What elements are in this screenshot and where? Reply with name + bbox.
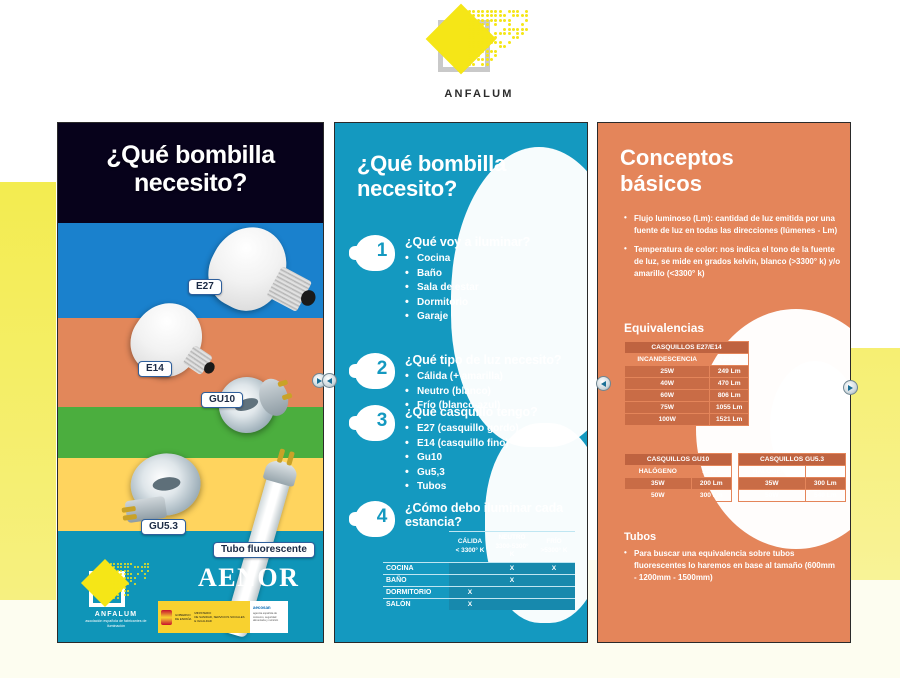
carousel-next-button-2[interactable] <box>843 380 858 395</box>
bulb-tag-gu53: GU5.3 <box>141 519 186 535</box>
bulb-tag-gu10: GU10 <box>201 392 243 408</box>
bulb-tag-e14: E14 <box>138 361 172 377</box>
table-head: CÁLIDA < 3300° K NEUTRO 3300-5300° K FRÍ… <box>383 532 575 563</box>
cell-lumens: 470 Lm <box>710 378 749 390</box>
concepts-list: Flujo luminoso (Lm): cantidad de luz emi… <box>624 213 842 287</box>
cell-lumens: 249 Lm <box>710 366 749 378</box>
table-row: BAÑO X <box>383 574 575 586</box>
cell-calida <box>449 574 491 586</box>
row-label: DORMITORIO <box>383 586 449 598</box>
chevron-left-icon <box>327 378 332 384</box>
anfalum-logo: ANFALUM <box>424 8 534 108</box>
list-item: Temperatura de color: nos indica el tono… <box>624 244 842 280</box>
cell-calida <box>449 562 491 574</box>
logo-wordmark: ANFALUM <box>424 88 534 100</box>
list-item: Flujo luminoso (Lm): cantidad de luz emi… <box>624 213 842 237</box>
table-row: 100W 1521 Lm <box>625 414 749 426</box>
table-subhead-row: HALÓGENO LED's <box>625 466 732 478</box>
step-4: 4 ¿Cómo debo iluminar cada estancia? <box>349 501 577 532</box>
table-row: 50W 540 Lm <box>739 490 846 502</box>
row-label: SALÓN <box>383 598 449 610</box>
list-item: Neutro (blanco) <box>405 385 577 400</box>
cell-watts: 50W <box>739 490 806 502</box>
panel-bulb-types[interactable]: ¿Qué bombilla necesito? <box>57 122 324 643</box>
cell-neutro <box>491 598 533 610</box>
left-yellow-band <box>0 182 56 600</box>
gobierno-text: GOBIERNO DE ESPAÑA <box>175 613 191 621</box>
cell-watts: 50W <box>625 490 692 502</box>
cell-neutro: X <box>491 574 533 586</box>
table-row: SALÓN X <box>383 598 575 610</box>
col-neutro-name: NEUTRO <box>494 534 530 543</box>
row-label: BAÑO <box>383 574 449 586</box>
col-halogeno: HALÓGENO <box>739 466 806 478</box>
step-1: 1 ¿Qué voy a iluminar? Cocina Baño Sala … <box>349 235 577 325</box>
step-2-number: 2 <box>369 358 395 380</box>
col-calida-range: < 3300° K <box>452 547 488 556</box>
table-row: COCINA X X <box>383 562 575 574</box>
table-corner <box>383 532 449 563</box>
table-row: 75W 1055 Lm <box>625 402 749 414</box>
table-row: DORMITORIO X <box>383 586 575 598</box>
logo-dots-icon <box>468 10 530 66</box>
list-item: Garaje <box>405 310 577 325</box>
tubos-title: Tubos <box>624 531 656 543</box>
cell-watts: 40W <box>625 378 710 390</box>
cell-lumens: 540 Lm <box>805 490 845 502</box>
list-item: Gu10 <box>405 451 577 466</box>
row-label: COCINA <box>383 562 449 574</box>
list-item: Baño <box>405 267 577 282</box>
middle-panel-title: ¿Qué bombilla necesito? <box>357 151 567 202</box>
cell-calida: X <box>449 586 491 598</box>
aecosan-logo: aecosan agencia española de consumo, seg… <box>250 601 288 633</box>
list-item: Sala de estar <box>405 281 577 296</box>
tubos-list: Para buscar una equivalencia sobre tubos… <box>624 548 839 584</box>
col-halogeno: HALÓGENO <box>625 466 692 478</box>
table-subhead-row: HALÓGENO LED's <box>739 466 846 478</box>
step-3-list: E27 (casquillo gordo) E14 (casquillo fin… <box>405 422 577 495</box>
col-leds: LED's <box>805 466 845 478</box>
step-2-question: ¿Qué tipo de luz necesito? <box>405 353 577 367</box>
col-calida: CÁLIDA < 3300° K <box>449 532 491 563</box>
aecosan-sub: agencia española de consumo, seguridad a… <box>253 612 285 623</box>
step-4-number: 4 <box>369 506 395 528</box>
list-item: Cocina <box>405 252 577 267</box>
cell-watts: 35W <box>625 478 692 490</box>
table-title: CASQUILLOS GU10 <box>625 454 732 466</box>
estancia-table: CÁLIDA < 3300° K NEUTRO 3300-5300° K FRÍ… <box>383 531 575 610</box>
cell-frio <box>533 574 575 586</box>
col-leds: LED's <box>710 354 749 366</box>
list-item: E14 (casquillo fino) <box>405 437 577 452</box>
step-1-list: Cocina Baño Sala de estar Dormitorio Gar… <box>405 252 577 325</box>
step-3-question: ¿Qué casquillo tengo? <box>405 405 577 419</box>
col-incandescencia: INCANDESCENCIA <box>625 354 710 366</box>
list-item: Dormitorio <box>405 296 577 311</box>
spain-coat-of-arms-icon <box>161 610 172 625</box>
cell-watts: 35W <box>739 478 806 490</box>
footer-logo-dots-icon <box>110 563 152 603</box>
chevron-right-icon <box>848 385 853 391</box>
ministerio-line3: E IGUALDAD <box>194 619 244 623</box>
cell-neutro: X <box>491 562 533 574</box>
aecosan-name: aecosan <box>253 605 285 610</box>
bulb-tag-tubo: Tubo fluorescente <box>213 542 315 558</box>
table-row: 60W 806 Lm <box>625 390 749 402</box>
footer-anfalum-logo: ANFALUM asociación española de fabricant… <box>80 561 152 629</box>
cell-watts: 60W <box>625 390 710 402</box>
col-neutro: NEUTRO 3300-5300° K <box>491 532 533 563</box>
list-item: Tubos <box>405 480 577 495</box>
table-row: 35W 300 Lm <box>739 478 846 490</box>
col-leds: LED's <box>691 466 731 478</box>
list-item: E27 (casquillo gordo) <box>405 422 577 437</box>
cell-frio: X <box>533 562 575 574</box>
cell-watts: 25W <box>625 366 710 378</box>
step-3-number: 3 <box>369 410 395 432</box>
equivalence-table-gu10: CASQUILLOS GU10 HALÓGENO LED's 35W 200 L… <box>624 453 732 502</box>
step-1-number: 1 <box>369 240 395 262</box>
table-header-row: CASQUILLOS E27/E14 <box>625 342 749 354</box>
table-title: CASQUILLOS E27/E14 <box>625 342 749 354</box>
table-header-row: CÁLIDA < 3300° K NEUTRO 3300-5300° K FRÍ… <box>383 532 575 563</box>
table-row: 40W 470 Lm <box>625 378 749 390</box>
chevron-left-icon <box>601 381 606 387</box>
cell-watts: 100W <box>625 414 710 426</box>
infographic-page: ANFALUM ¿Qué bombilla necesito? <box>0 0 900 678</box>
cell-lumens: 300 Lm <box>691 490 731 502</box>
table-body: COCINA X X BAÑO X DORMITORIO X <box>383 562 575 610</box>
cell-watts: 75W <box>625 402 710 414</box>
list-item: Para buscar una equivalencia sobre tubos… <box>624 548 839 584</box>
cell-frio <box>533 586 575 598</box>
col-neutro-range: 3300-5300° K <box>494 543 530 560</box>
step-4-question: ¿Cómo debo iluminar cada estancia? <box>405 501 577 529</box>
table-subhead-row: INCANDESCENCIA LED's <box>625 354 749 366</box>
bulb-tag-e27: E27 <box>188 279 222 295</box>
government-logos-bar: GOBIERNO DE ESPAÑA MINISTERIO DE SANIDAD… <box>158 601 288 633</box>
col-frio: FRÍO >5300° K <box>533 532 575 563</box>
aenor-wordmark: AENOR <box>198 563 299 593</box>
col-frio-name: FRÍO <box>536 538 572 547</box>
table-row: 25W 249 Lm <box>625 366 749 378</box>
carousel-prev-button-2[interactable] <box>596 376 611 391</box>
cell-lumens: 300 Lm <box>805 478 845 490</box>
ministerio-text: MINISTERIO DE SANIDAD, SERVICIOS SOCIALE… <box>194 611 244 624</box>
list-item: Cálida (+ amarilla) <box>405 370 577 385</box>
footer-anfalum-name: ANFALUM <box>80 611 152 618</box>
gobierno-line2: DE ESPAÑA <box>175 617 191 621</box>
panel-concepts[interactable]: Conceptos básicos Flujo luminoso (Lm): c… <box>597 122 851 643</box>
cell-lumens: 1055 Lm <box>710 402 749 414</box>
table-row: 35W 200 Lm <box>625 478 732 490</box>
right-panel-title: Conceptos básicos <box>620 145 820 196</box>
table-title: CASQUILLOS GU5.3 <box>739 454 846 466</box>
col-frio-range: >5300° K <box>536 547 572 556</box>
col-calida-name: CÁLIDA <box>452 538 488 547</box>
step-3: 3 ¿Qué casquillo tengo? E27 (casquillo g… <box>349 405 577 495</box>
cell-lumens: 806 Lm <box>710 390 749 402</box>
cell-lumens: 1521 Lm <box>710 414 749 426</box>
left-panel-title: ¿Qué bombilla necesito? <box>58 141 323 197</box>
cell-frio <box>533 598 575 610</box>
table-header-row: CASQUILLOS GU10 <box>625 454 732 466</box>
gobierno-ministerio-logo: GOBIERNO DE ESPAÑA MINISTERIO DE SANIDAD… <box>158 601 250 633</box>
panel-questions[interactable]: ¿Qué bombilla necesito? 1 ¿Qué voy a ilu… <box>334 122 588 643</box>
step-1-question: ¿Qué voy a iluminar? <box>405 235 577 249</box>
table-header-row: CASQUILLOS GU5.3 <box>739 454 846 466</box>
equivalencias-title: Equivalencias <box>624 321 704 335</box>
equivalence-table-e27: CASQUILLOS E27/E14 INCANDESCENCIA LED's … <box>624 341 749 426</box>
equivalence-table-gu53: CASQUILLOS GU5.3 HALÓGENO LED's 35W 300 … <box>738 453 846 502</box>
footer-anfalum-sub: asociación española de fabricantes de il… <box>80 619 152 629</box>
cell-neutro <box>491 586 533 598</box>
cell-calida: X <box>449 598 491 610</box>
table-row: 50W 300 Lm <box>625 490 732 502</box>
cell-lumens: 200 Lm <box>691 478 731 490</box>
carousel-prev-button-1[interactable] <box>322 373 337 388</box>
list-item: Gu5,3 <box>405 466 577 481</box>
